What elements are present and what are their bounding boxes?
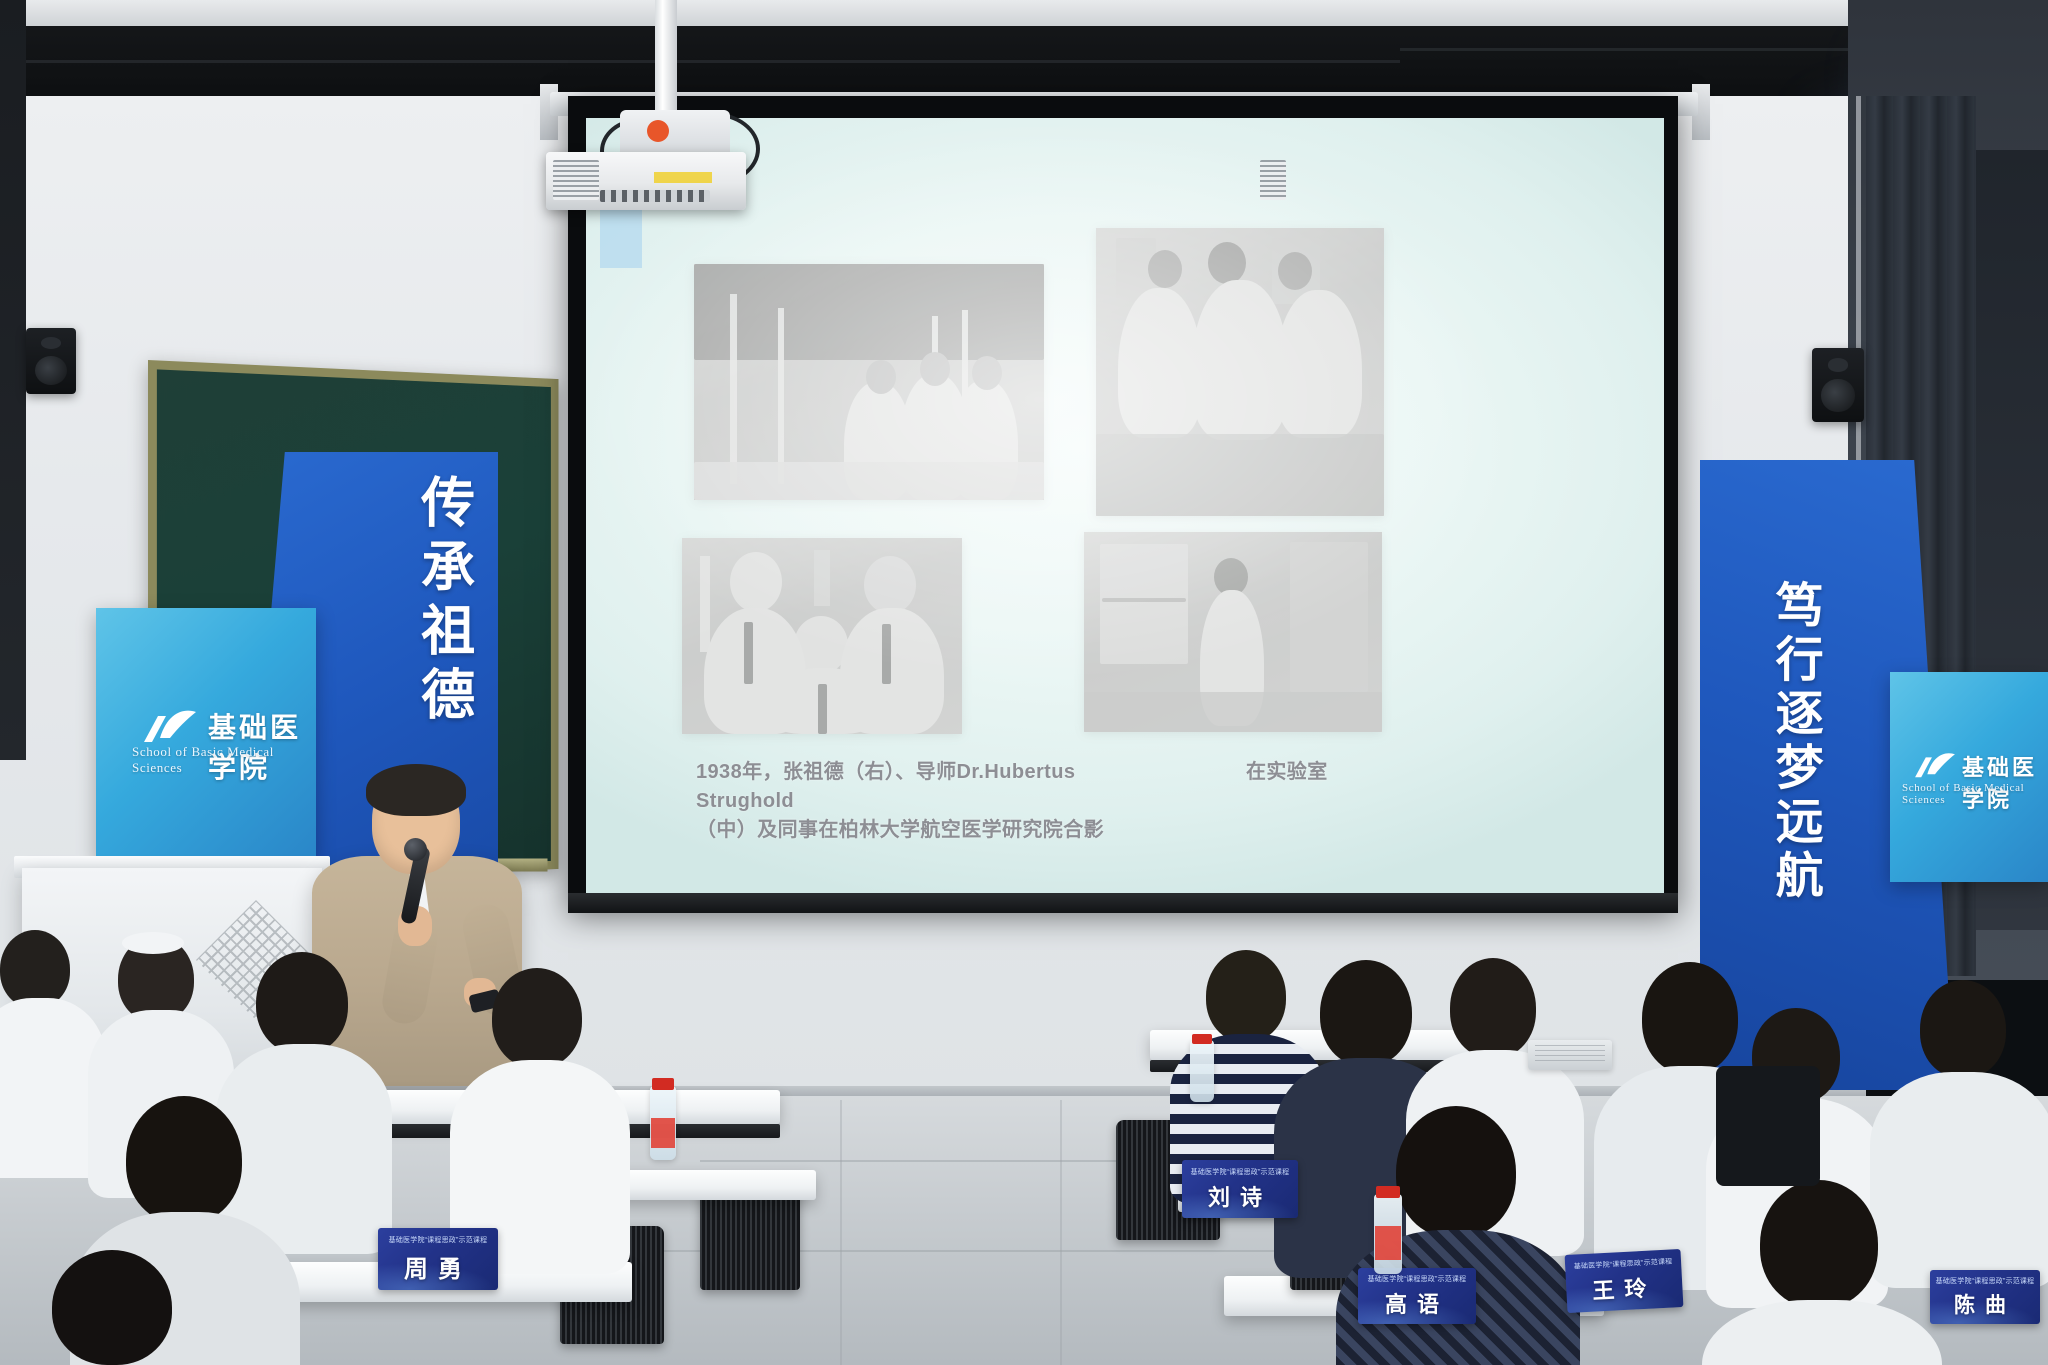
nameplate-subtitle: 基础医学院“课程思政”示范课程	[1936, 1276, 2035, 1286]
nameplate-name: 陈曲	[1954, 1289, 2016, 1319]
bottle-cap	[1192, 1034, 1212, 1044]
nameplate-liu-shi: 基础医学院“课程思政”示范课程 刘诗	[1182, 1160, 1298, 1218]
banner-right-vertical-text: 笃行逐梦远航	[1766, 580, 1822, 1000]
slide-caption-right: 在实验室	[1246, 758, 1446, 787]
wall-speaker-left	[26, 328, 76, 394]
nameplate-gao-yu: 基础医学院“课程思政”示范课程 高语	[1358, 1268, 1476, 1324]
nameplate-wang-ling: 基础医学院“课程思政”示范课程 王玲	[1565, 1249, 1684, 1313]
bottle-cap	[1376, 1186, 1400, 1198]
nameplate-name: 王玲	[1592, 1270, 1658, 1305]
vent-grille-icon	[1535, 1045, 1605, 1065]
nameplate-subtitle: 基础医学院“课程思政”示范课程	[1191, 1167, 1290, 1177]
banner-left-logo-card: 基础医学院 School of Basic Medical Sciences	[96, 608, 316, 860]
left-wall-dark-panel	[0, 0, 26, 760]
nameplate-subtitle: 基础医学院“课程思政”示范课程	[1368, 1274, 1467, 1284]
speaker-tweeter-icon	[1828, 358, 1849, 371]
speaker-cone-icon	[35, 356, 67, 385]
wall-speaker-right	[1812, 348, 1864, 422]
speaker-tweeter-icon	[41, 337, 61, 349]
speaker-cone-icon	[1821, 379, 1854, 412]
slide-photo-top-right	[1096, 228, 1384, 516]
slide-photo-bottom-right	[1084, 532, 1382, 732]
bottle-cap	[652, 1078, 674, 1090]
nameplate-zhou-yong: 基础医学院“课程思政”示范课程 周勇	[378, 1228, 498, 1290]
school-logo-icon	[140, 704, 200, 748]
water-bottle	[1190, 1040, 1214, 1102]
nameplate-name: 刘诗	[1208, 1180, 1272, 1212]
slide-photo-top-left	[694, 264, 1044, 500]
floor-tile-line	[1060, 1100, 1062, 1365]
projection-screen-surface: 1938年，张祖德（右）、导师Dr.Hubertus Strughold （中）…	[586, 118, 1664, 900]
banner-right-logo-en: School of Basic Medical Sciences	[1902, 782, 2048, 806]
slide-caption-left: 1938年，张祖德（右）、导师Dr.Hubertus Strughold （中）…	[696, 758, 1136, 845]
presenter-hair	[366, 764, 466, 816]
slide-decoration-square	[600, 210, 642, 268]
nameplate-chen-qu: 基础医学院“课程思政”示范课程 陈曲	[1930, 1270, 2040, 1324]
projector	[546, 152, 746, 210]
nameplate-name: 高语	[1385, 1287, 1449, 1319]
nameplate-subtitle: 基础医学院“课程思政”示范课程	[389, 1235, 488, 1245]
bottle-label	[651, 1118, 675, 1148]
wall-control-panel	[1528, 1040, 1612, 1070]
bottle-label	[1375, 1226, 1401, 1260]
microphone-head-icon	[404, 838, 427, 861]
nameplate-name: 周勇	[404, 1249, 472, 1284]
banner-left-logo-en: School of Basic Medical Sciences	[132, 744, 316, 776]
banner-right-logo-card: 基础医学院 School of Basic Medical Sciences	[1890, 672, 2048, 882]
projection-screen-bottom-bar	[568, 893, 1678, 913]
lecture-hall-scene: 1938年，张祖德（右）、导师Dr.Hubertus Strughold （中）…	[0, 0, 2048, 1365]
school-logo-icon	[1912, 748, 1958, 782]
projector-mount-knob	[647, 120, 669, 142]
ceiling-beam	[0, 0, 2048, 26]
floor-tile-line	[840, 1100, 842, 1365]
ceiling-panel-line	[0, 60, 1400, 63]
slide-photo-bottom-left	[682, 538, 962, 734]
nameplate-subtitle: 基础医学院“课程思政”示范课程	[1574, 1256, 1673, 1271]
